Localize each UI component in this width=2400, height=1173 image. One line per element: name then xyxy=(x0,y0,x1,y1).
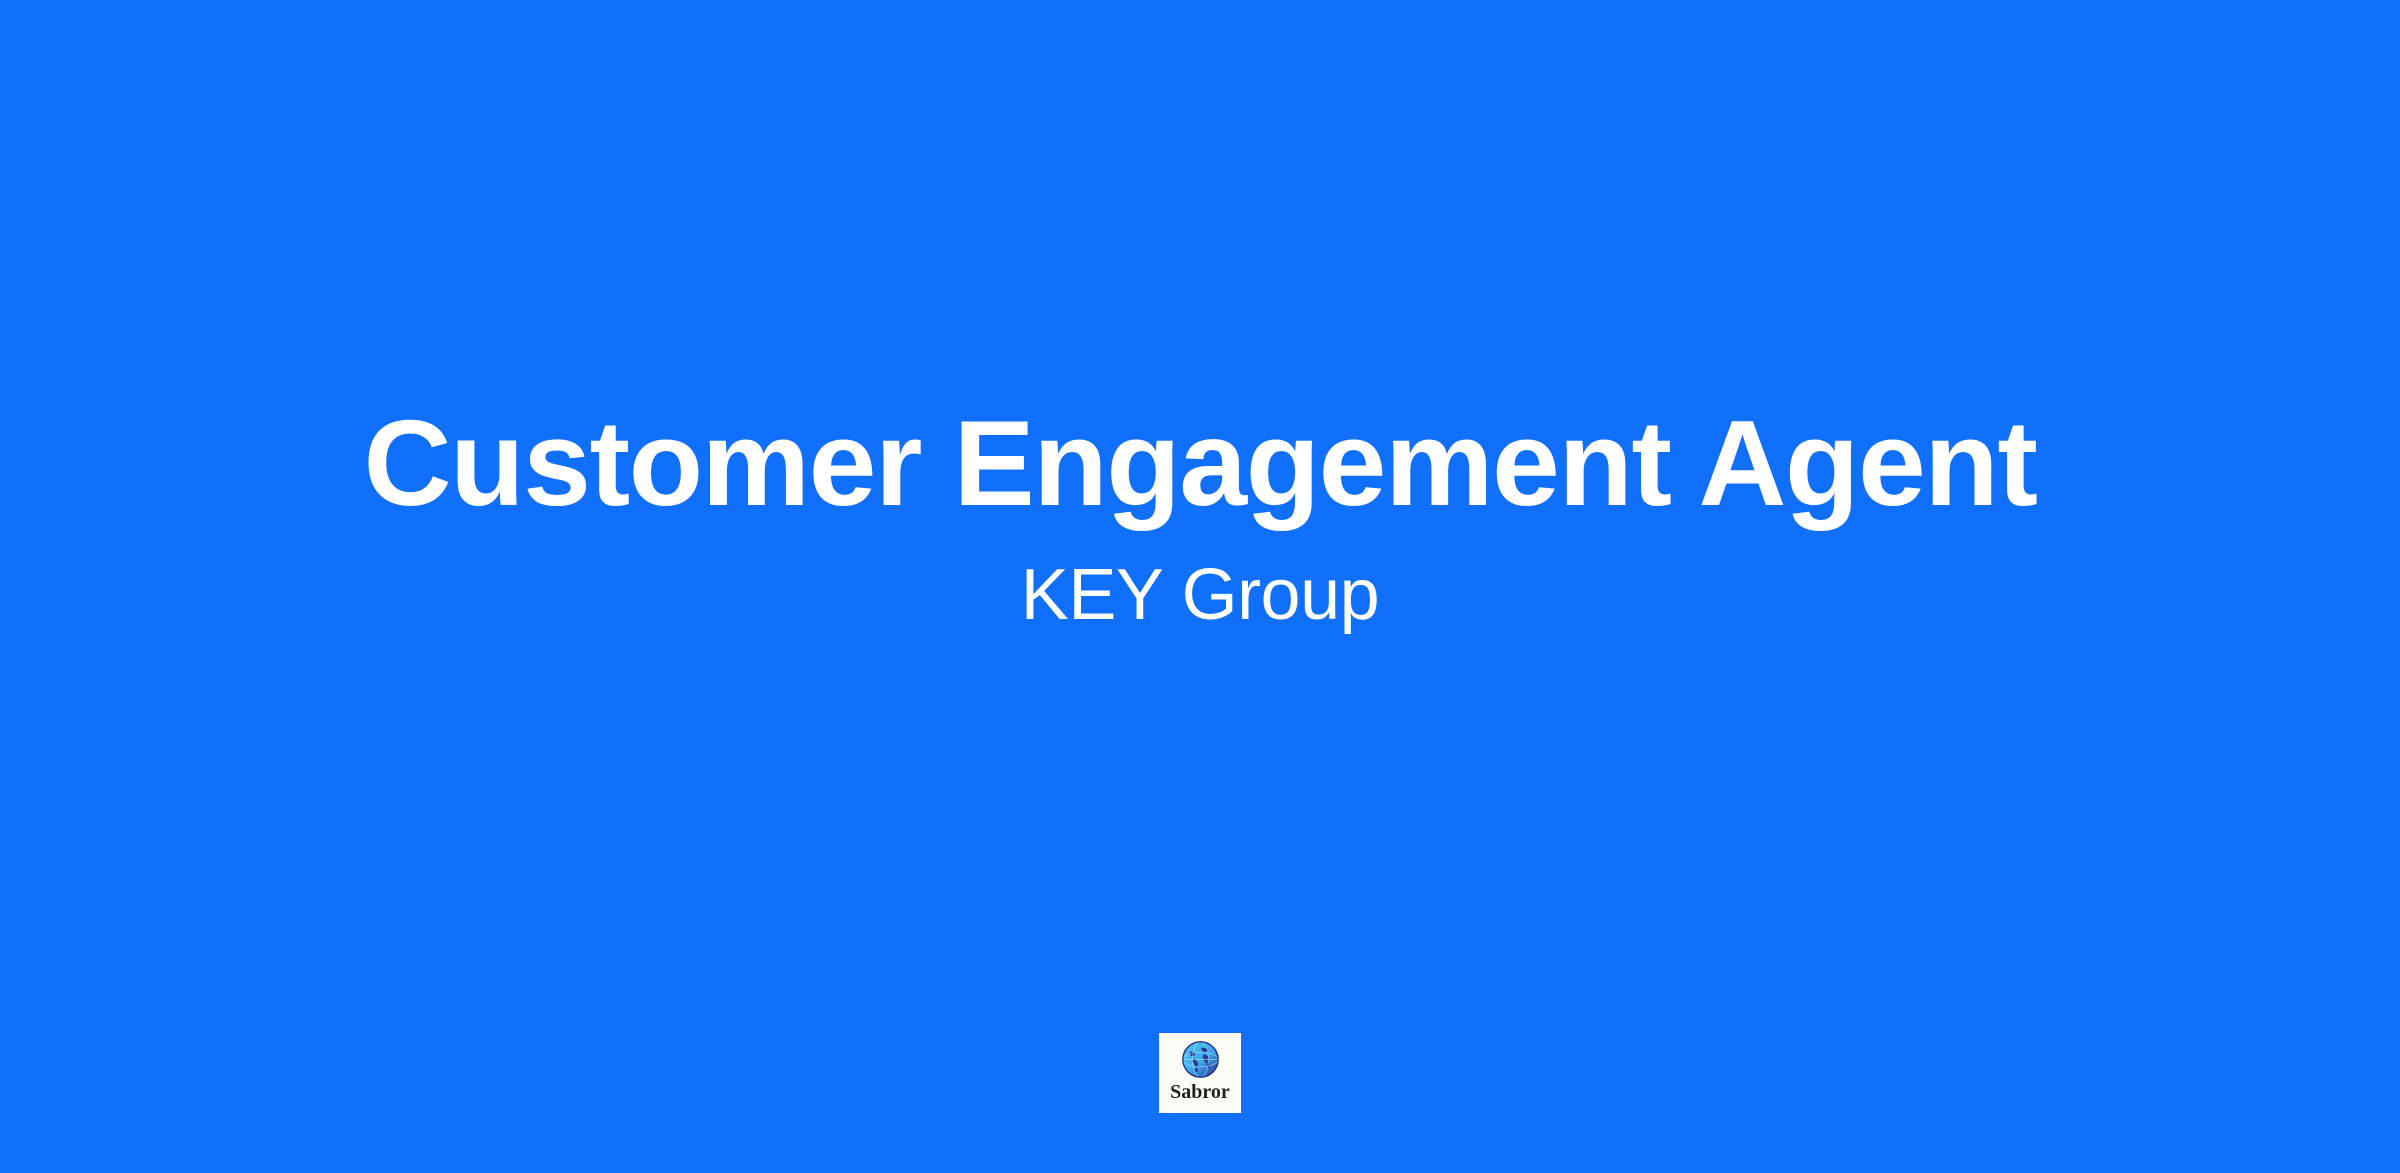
brand-logo: Sabror xyxy=(1159,1033,1241,1113)
page-title: Customer Engagement Agent xyxy=(364,395,2037,532)
title-block: Customer Engagement Agent KEY Group xyxy=(0,0,2400,1173)
title-slide: Customer Engagement Agent KEY Group xyxy=(0,0,2400,1173)
globe-icon xyxy=(1181,1040,1220,1079)
logo-wordmark: Sabror xyxy=(1170,1082,1230,1102)
page-subtitle: KEY Group xyxy=(1021,554,1379,637)
